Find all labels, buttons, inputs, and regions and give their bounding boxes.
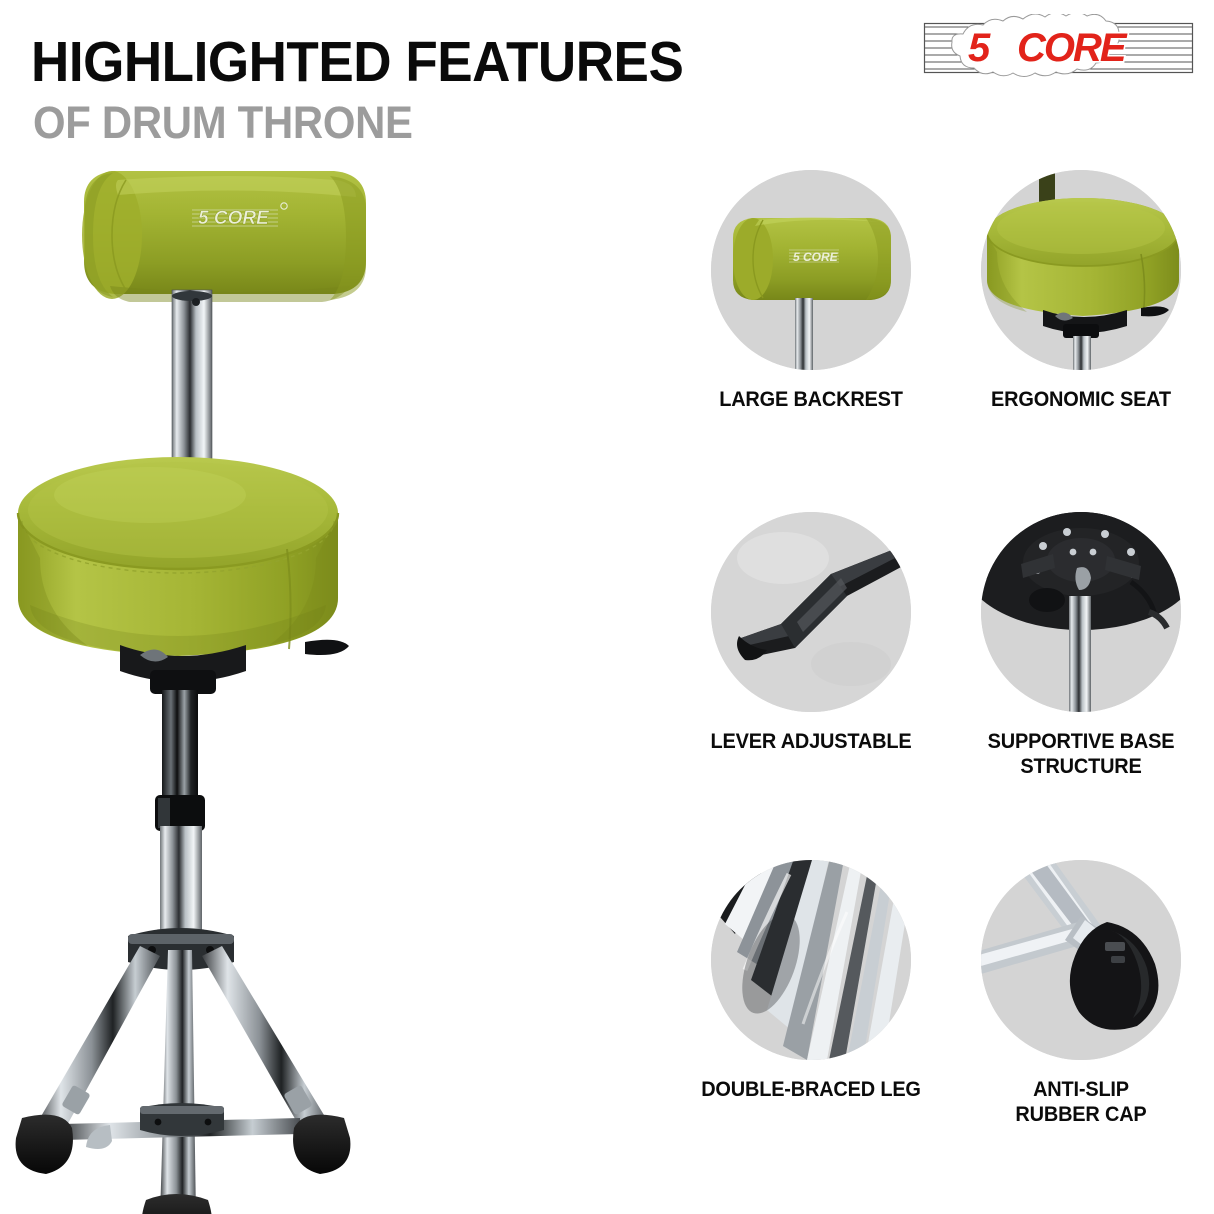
feature-supportive-base-structure[interactable]: SUPPORTIVE BASE STRUCTURE <box>946 512 1214 779</box>
infographic-page: HIGHLIGHTED FEATURES OF DRUM THRONE <box>0 0 1214 1214</box>
feature-image-lever-adjustable <box>711 512 911 712</box>
5-core-logo-icon: 5 CORE <box>921 14 1196 80</box>
base-structure-closeup-icon <box>981 512 1181 712</box>
rubber-cap-closeup-icon <box>981 860 1181 1060</box>
feature-large-backrest[interactable]: 5 CORE LARGE BACKREST <box>676 170 946 412</box>
rubber-foot-left <box>16 1115 73 1174</box>
brand-logo: 5 CORE <box>921 14 1196 80</box>
svg-text:5 CORE: 5 CORE <box>198 208 270 229</box>
caption-line: DOUBLE-BRACED LEG <box>683 1077 940 1102</box>
feature-image-large-backrest: 5 CORE <box>711 170 911 370</box>
caption-line: ANTI-SLIP <box>953 1077 1210 1102</box>
feature-double-braced-leg[interactable]: DOUBLE-BRACED LEG <box>676 860 946 1102</box>
rubber-foot-center <box>142 1194 212 1214</box>
svg-text:5 CORE: 5 CORE <box>793 250 839 264</box>
feature-caption-ergonomic-seat: ERGONOMIC SEAT <box>953 387 1210 412</box>
feature-caption-double-braced-leg: DOUBLE-BRACED LEG <box>683 1077 940 1102</box>
caption-line: ERGONOMIC SEAT <box>953 387 1210 412</box>
feature-image-ergonomic-seat <box>981 170 1181 370</box>
caption-line: RUBBER CAP <box>953 1102 1210 1127</box>
feature-caption-lever-adjustable: LEVER ADJUSTABLE <box>683 729 940 754</box>
hero-product-image: 5 CORE <box>0 150 620 1214</box>
caption-line: SUPPORTIVE BASE <box>953 729 1210 754</box>
caption-line: STRUCTURE <box>953 754 1210 779</box>
drum-throne-illustration: 5 CORE <box>0 150 620 1214</box>
feature-image-anti-slip-rubber-cap <box>981 860 1181 1060</box>
page-header: HIGHLIGHTED FEATURES OF DRUM THRONE <box>0 0 1214 165</box>
page-subtitle: OF DRUM THRONE <box>33 100 413 146</box>
caption-line: LARGE BACKREST <box>683 387 940 412</box>
feature-grid: 5 CORE LARGE BACKREST <box>640 170 1214 1200</box>
lever-closeup-icon <box>711 512 911 712</box>
feature-caption-anti-slip-rubber-cap: ANTI-SLIP RUBBER CAP <box>953 1077 1210 1127</box>
feature-caption-large-backrest: LARGE BACKREST <box>683 387 940 412</box>
double-braced-leg-closeup-icon <box>711 860 911 1060</box>
feature-ergonomic-seat[interactable]: ERGONOMIC SEAT <box>946 170 1214 412</box>
seat-cushion <box>18 457 338 656</box>
height-column <box>155 690 205 944</box>
svg-text:CORE: CORE <box>1017 26 1128 70</box>
feature-caption-supportive-base: SUPPORTIVE BASE STRUCTURE <box>953 729 1210 779</box>
backrest-closeup-icon: 5 CORE <box>711 170 911 370</box>
feature-lever-adjustable[interactable]: LEVER ADJUSTABLE <box>676 512 946 754</box>
adjust-lever <box>305 640 349 655</box>
svg-text:5: 5 <box>968 26 991 70</box>
seat-closeup-icon <box>981 170 1181 370</box>
caption-line: LEVER ADJUSTABLE <box>683 729 940 754</box>
feature-anti-slip-rubber-cap[interactable]: ANTI-SLIP RUBBER CAP <box>946 860 1214 1127</box>
page-title: HIGHLIGHTED FEATURES <box>31 33 683 91</box>
feature-image-supportive-base <box>981 512 1181 712</box>
backrest-cushion: 5 CORE <box>82 171 366 302</box>
rubber-foot-right <box>293 1115 350 1174</box>
tripod-base <box>16 928 351 1214</box>
feature-image-double-braced-leg <box>711 860 911 1060</box>
